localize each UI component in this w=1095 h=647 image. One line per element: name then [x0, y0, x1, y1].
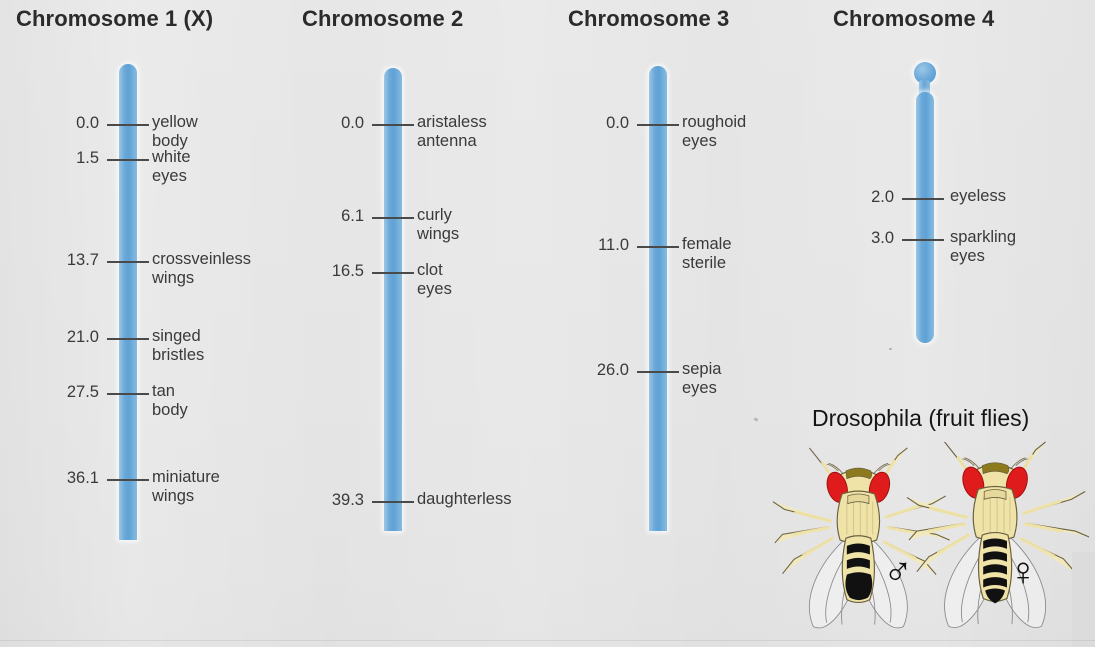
chromosome-title-1: Chromosome 1 (X) [16, 6, 213, 32]
locus-position: 26.0 [587, 361, 629, 380]
locus-position: 16.5 [322, 262, 364, 281]
drosophila-illustration [755, 440, 1095, 640]
locus-position: 6.1 [328, 207, 364, 226]
locus-tick [107, 338, 149, 340]
locus-tick [107, 159, 149, 161]
locus-gene-label: sepia eyes [682, 360, 721, 398]
locus-gene-label: aristaless antenna [417, 113, 487, 151]
locus-gene-label: crossveinless wings [152, 250, 251, 288]
chromosome-title-4: Chromosome 4 [833, 6, 994, 32]
illustration-caption: Drosophila (fruit flies) [812, 405, 1029, 432]
locus-position: 39.3 [322, 491, 364, 510]
locus-gene-label: clot eyes [417, 261, 452, 299]
locus-position: 1.5 [63, 149, 99, 168]
female-symbol-icon: ♀ [1008, 552, 1038, 592]
scan-bottom-rule [0, 640, 1095, 641]
locus-position: 0.0 [63, 114, 99, 133]
locus-position: 21.0 [57, 328, 99, 347]
locus-gene-label: tan body [152, 382, 188, 420]
figure-canvas: Chromosome 1 (X) 0.0 yellow body 1.5 whi… [0, 0, 1095, 647]
locus-position: 2.0 [858, 188, 894, 207]
locus-tick [107, 393, 149, 395]
chromosome-bar-1 [119, 64, 137, 540]
scan-edge-patch [1072, 552, 1095, 647]
locus-position: 11.0 [587, 236, 629, 255]
locus-tick [637, 371, 679, 373]
locus-position: 0.0 [593, 114, 629, 133]
chromosome-bar-2 [384, 68, 402, 531]
locus-tick [902, 198, 944, 200]
locus-gene-label: sparkling eyes [950, 228, 1016, 266]
chromosome-title-2: Chromosome 2 [302, 6, 463, 32]
male-symbol-icon: ♂ [883, 552, 913, 592]
chromosome-bar-3 [649, 66, 667, 531]
locus-tick [372, 272, 414, 274]
locus-tick [637, 246, 679, 248]
locus-gene-label: yellow body [152, 113, 198, 151]
locus-tick [107, 124, 149, 126]
locus-tick [107, 261, 149, 263]
locus-gene-label: female sterile [682, 235, 732, 273]
locus-position: 36.1 [57, 469, 99, 488]
locus-position: 13.7 [57, 251, 99, 270]
locus-tick [107, 479, 149, 481]
locus-gene-label: curly wings [417, 206, 459, 244]
locus-gene-label: daughterless [417, 490, 511, 509]
locus-gene-label: miniature wings [152, 468, 220, 506]
locus-position: 3.0 [858, 229, 894, 248]
chromosome-title-3: Chromosome 3 [568, 6, 729, 32]
locus-position: 0.0 [328, 114, 364, 133]
male-fly [773, 448, 950, 628]
scan-speck [889, 348, 892, 350]
locus-tick [372, 124, 414, 126]
locus-gene-label: eyeless [950, 187, 1006, 206]
locus-tick [902, 239, 944, 241]
locus-tick [372, 501, 414, 503]
locus-position: 27.5 [57, 383, 99, 402]
chromosome-bar-4 [916, 92, 934, 343]
locus-tick [372, 217, 414, 219]
locus-tick [637, 124, 679, 126]
locus-gene-label: roughoid eyes [682, 113, 746, 151]
scan-speck [754, 417, 759, 422]
locus-gene-label: singed bristles [152, 327, 204, 365]
locus-gene-label: white eyes [152, 148, 191, 186]
